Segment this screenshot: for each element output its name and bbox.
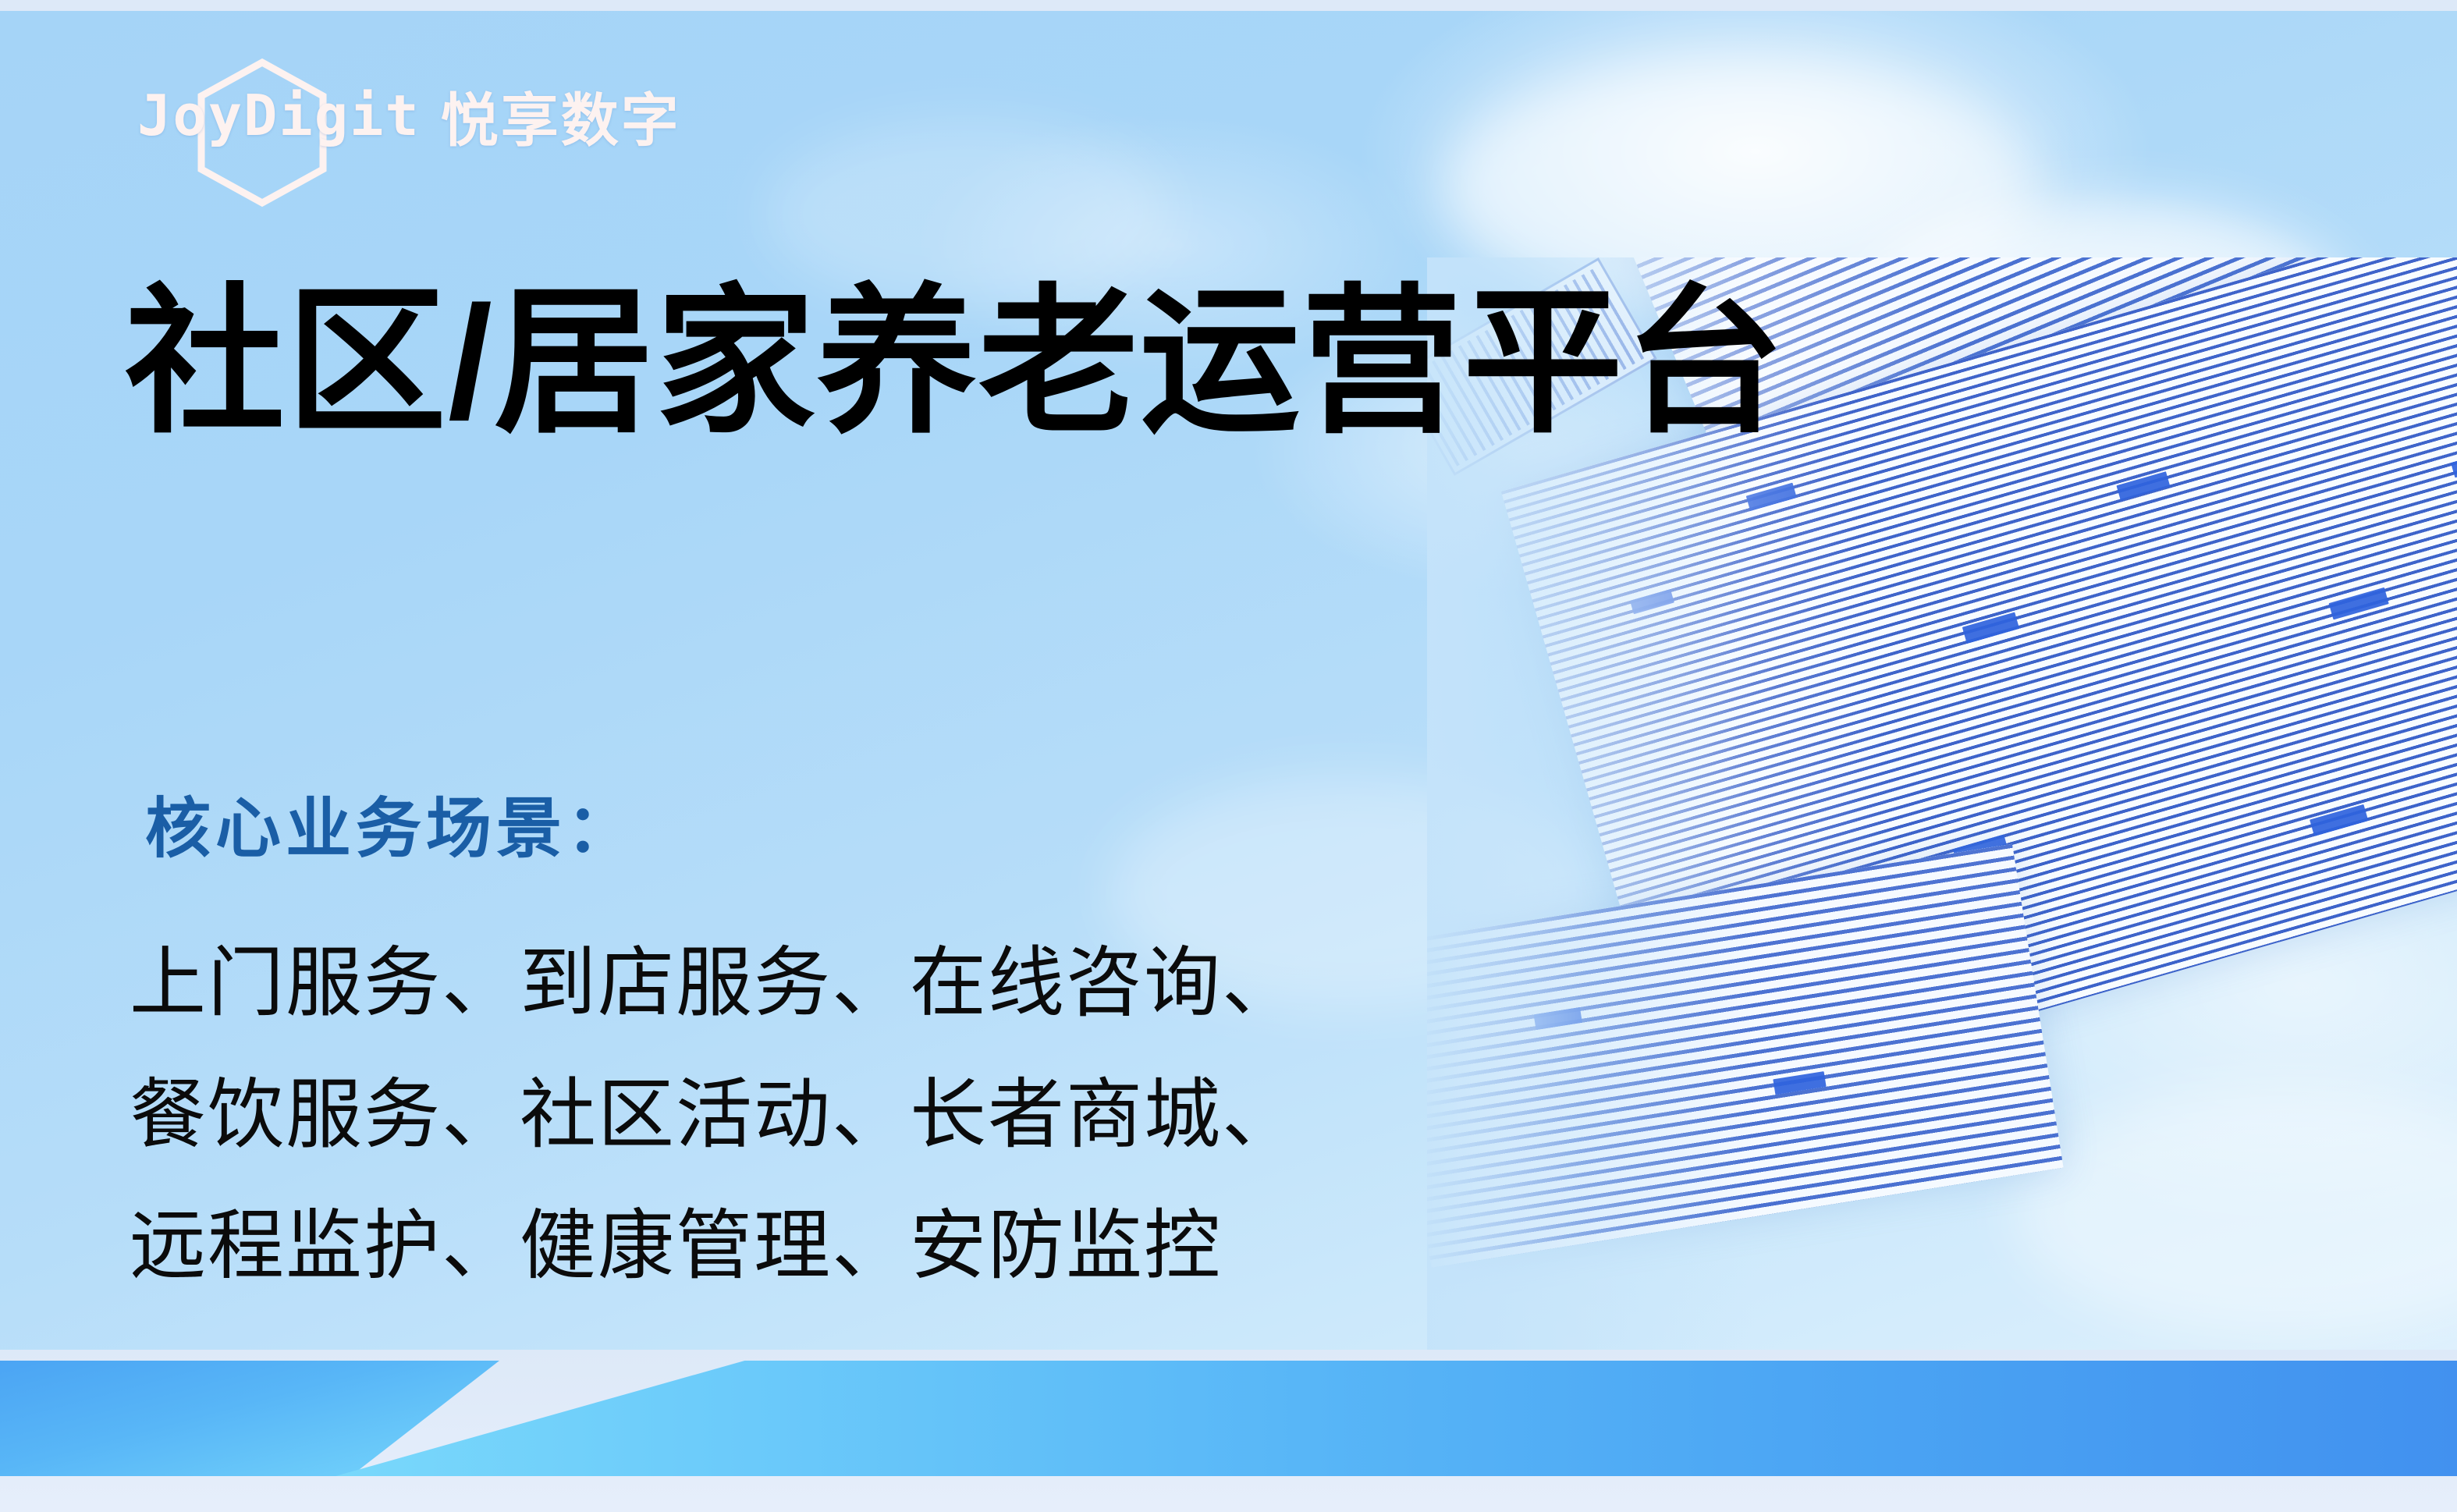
top-edge-strip (0, 0, 2457, 11)
slide-root: JoyDigit 悦享数字 社区/居家养老运营平台 核心业务场景： 上门服务、到… (0, 0, 2457, 1512)
brand-logo[interactable]: JoyDigit 悦享数字 (137, 61, 681, 170)
tower-slab-lower (1427, 844, 2064, 1268)
scenario-line: 远程监护、健康管理、安防监控 (130, 1180, 1300, 1311)
logo-chinese: 悦享数字 (441, 74, 681, 158)
section-heading: 核心业务场景： (145, 776, 637, 871)
scenario-list: 上门服务、到店服务、在线咨询、 餐饮服务、社区活动、长者商城、 远程监护、健康管… (130, 917, 1300, 1311)
page-title: 社区/居家养老运营平台 (125, 273, 1786, 453)
logo-text-group: JoyDigit 悦享数字 (137, 74, 681, 158)
scenario-line: 餐饮服务、社区活动、长者商城、 (130, 1049, 1300, 1180)
bottom-banner (0, 1350, 2457, 1512)
banner-band-right (336, 1361, 2457, 1476)
logo-english: JoyDigit (137, 83, 421, 148)
scenario-line: 上门服务、到店服务、在线咨询、 (130, 917, 1300, 1049)
window-bands (1427, 844, 2064, 1268)
